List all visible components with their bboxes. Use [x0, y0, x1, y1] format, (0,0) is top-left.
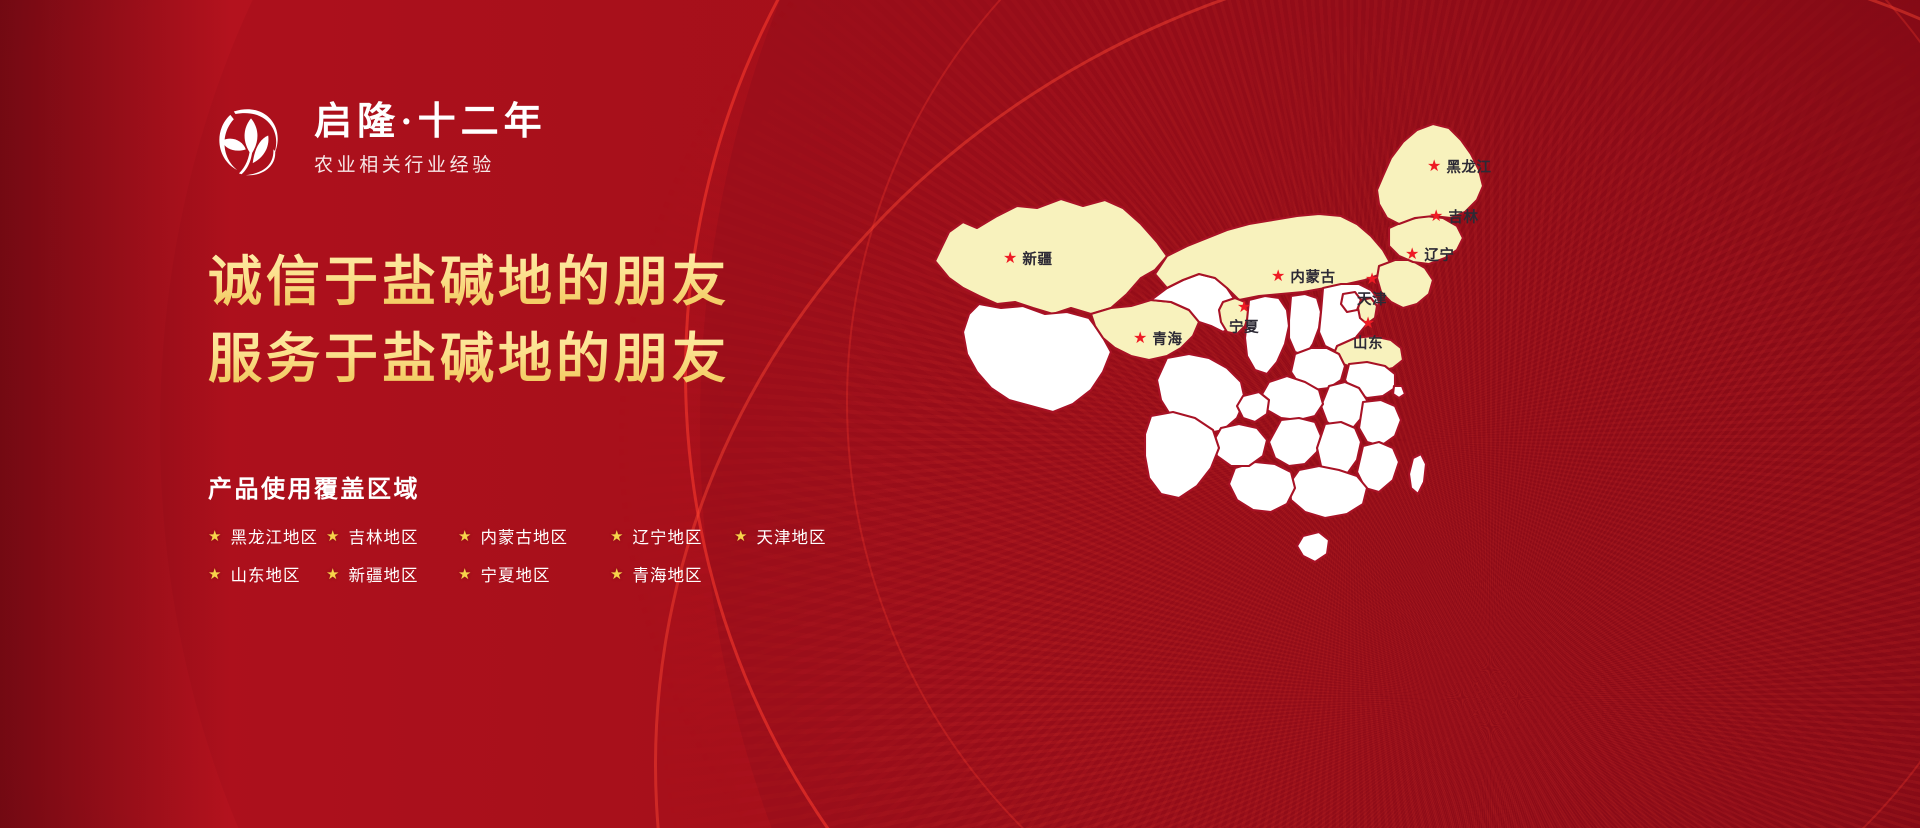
- star-icon: ★: [610, 567, 623, 582]
- brand-subtitle: 农业相关行业经验: [314, 150, 547, 177]
- coverage-title: 产品使用覆盖区域: [208, 469, 988, 504]
- region-item-ningxia[interactable]: ★ 宁夏地区: [458, 562, 610, 586]
- star-icon: ★: [1427, 159, 1441, 175]
- map-marker-label: 黑龙江: [1446, 156, 1491, 177]
- region-item-xinjiang[interactable]: ★ 新疆地区: [326, 562, 458, 586]
- map-marker-shandong[interactable]: ★ 山东: [1353, 316, 1383, 353]
- map-marker-liaoning[interactable]: ★ 辽宁: [1405, 244, 1455, 265]
- province-zhejiang: [1359, 400, 1401, 446]
- province-guangdong: [1289, 466, 1367, 518]
- region-label: 新疆地区: [348, 562, 418, 586]
- municipality-shanghai: [1393, 386, 1405, 398]
- brand-logo: 启隆·十二年 农业相关行业经验: [208, 96, 988, 182]
- star-icon: ★: [326, 567, 339, 582]
- star-icon: ★: [1237, 300, 1251, 316]
- region-item-heilongjiang[interactable]: ★ 黑龙江地区: [208, 524, 326, 548]
- map-marker-label: 新疆: [1022, 248, 1052, 269]
- province-hainan: [1297, 532, 1329, 562]
- region-label: 黑龙江地区: [230, 524, 318, 548]
- star-icon: ★: [1133, 331, 1147, 347]
- star-icon: ★: [734, 529, 747, 544]
- map-marker-ningxia[interactable]: ★ 宁夏: [1229, 300, 1259, 337]
- map-marker-label: 内蒙古: [1290, 266, 1335, 287]
- map-marker-label: 山东: [1353, 332, 1383, 353]
- headline-line-1: 诚信于盐碱地的朋友: [208, 244, 988, 321]
- star-icon: ★: [326, 529, 339, 544]
- region-label: 吉林地区: [348, 524, 418, 548]
- left-content: 启隆·十二年 农业相关行业经验 诚信于盐碱地的朋友 服务于盐碱地的朋友 产品使用…: [208, 96, 988, 586]
- province-hunan: [1269, 418, 1321, 466]
- star-icon: ★: [1365, 272, 1379, 288]
- lotus-leaf-circle-icon: [208, 96, 294, 182]
- region-label: 宁夏地区: [480, 562, 550, 586]
- map-marker-inner-mongolia[interactable]: ★ 内蒙古: [1271, 266, 1336, 287]
- coverage-section: 产品使用覆盖区域 ★ 黑龙江地区 ★ 吉林地区 ★ 内蒙古地区 ★ 辽宁地区: [208, 469, 988, 586]
- region-label: 青海地区: [632, 562, 702, 586]
- map-marker-label: 宁夏: [1229, 316, 1259, 337]
- star-icon: ★: [1361, 316, 1375, 332]
- map-marker-jilin[interactable]: ★ 吉林: [1429, 206, 1479, 227]
- star-icon: ★: [610, 529, 623, 544]
- province-taiwan: [1409, 454, 1426, 494]
- star-icon: ★: [208, 567, 221, 582]
- region-item-inner-mongolia[interactable]: ★ 内蒙古地区: [458, 524, 610, 548]
- region-label: 内蒙古地区: [480, 524, 568, 548]
- region-label: 辽宁地区: [632, 524, 702, 548]
- star-icon: ★: [1429, 209, 1443, 225]
- star-icon: ★: [1003, 251, 1017, 267]
- province-guizhou: [1213, 424, 1267, 466]
- star-icon: ★: [458, 529, 471, 544]
- province-tibet: [963, 304, 1111, 412]
- headline: 诚信于盐碱地的朋友 服务于盐碱地的朋友: [208, 244, 988, 397]
- star-icon: ★: [458, 567, 471, 582]
- star-icon: ★: [208, 529, 221, 544]
- map-marker-label: 天津: [1357, 288, 1387, 309]
- map-marker-label: 吉林: [1448, 206, 1478, 227]
- banner-root: 启隆·十二年 农业相关行业经验 诚信于盐碱地的朋友 服务于盐碱地的朋友 产品使用…: [0, 0, 1920, 828]
- region-label: 天津地区: [756, 524, 826, 548]
- municipality-chongqing: [1237, 392, 1269, 422]
- region-item-qinghai[interactable]: ★ 青海地区: [610, 562, 734, 586]
- map-marker-heilongjiang[interactable]: ★ 黑龙江: [1427, 156, 1492, 177]
- map-marker-qinghai[interactable]: ★ 青海: [1133, 328, 1183, 349]
- region-item-liaoning[interactable]: ★ 辽宁地区: [610, 524, 734, 548]
- map-marker-xinjiang[interactable]: ★ 新疆: [1003, 248, 1053, 269]
- province-guangxi: [1229, 462, 1295, 512]
- star-icon: ★: [1271, 269, 1285, 285]
- china-map: ★ 黑龙江 ★ 吉林 ★ 辽宁 ★ 内蒙古 ★ 天津 ★ 山东 ★ 宁夏 ★ 青: [905, 56, 1605, 746]
- region-item-shandong[interactable]: ★ 山东地区: [208, 562, 326, 586]
- map-marker-label: 辽宁: [1424, 244, 1454, 265]
- region-item-jilin[interactable]: ★ 吉林地区: [326, 524, 458, 548]
- map-marker-label: 青海: [1152, 328, 1182, 349]
- brand-title: 启隆·十二年: [314, 101, 547, 144]
- map-marker-tianjin[interactable]: ★ 天津: [1357, 272, 1387, 309]
- star-icon: ★: [1405, 247, 1419, 263]
- coverage-region-list: ★ 黑龙江地区 ★ 吉林地区 ★ 内蒙古地区 ★ 辽宁地区 ★ 天津地区: [208, 524, 988, 586]
- china-map-svg: [905, 56, 1605, 746]
- headline-line-2: 服务于盐碱地的朋友: [208, 321, 988, 398]
- region-item-tianjin[interactable]: ★ 天津地区: [734, 524, 854, 548]
- brand-text: 启隆·十二年 农业相关行业经验: [314, 101, 547, 178]
- province-shanxi: [1289, 294, 1321, 356]
- region-label: 山东地区: [230, 562, 300, 586]
